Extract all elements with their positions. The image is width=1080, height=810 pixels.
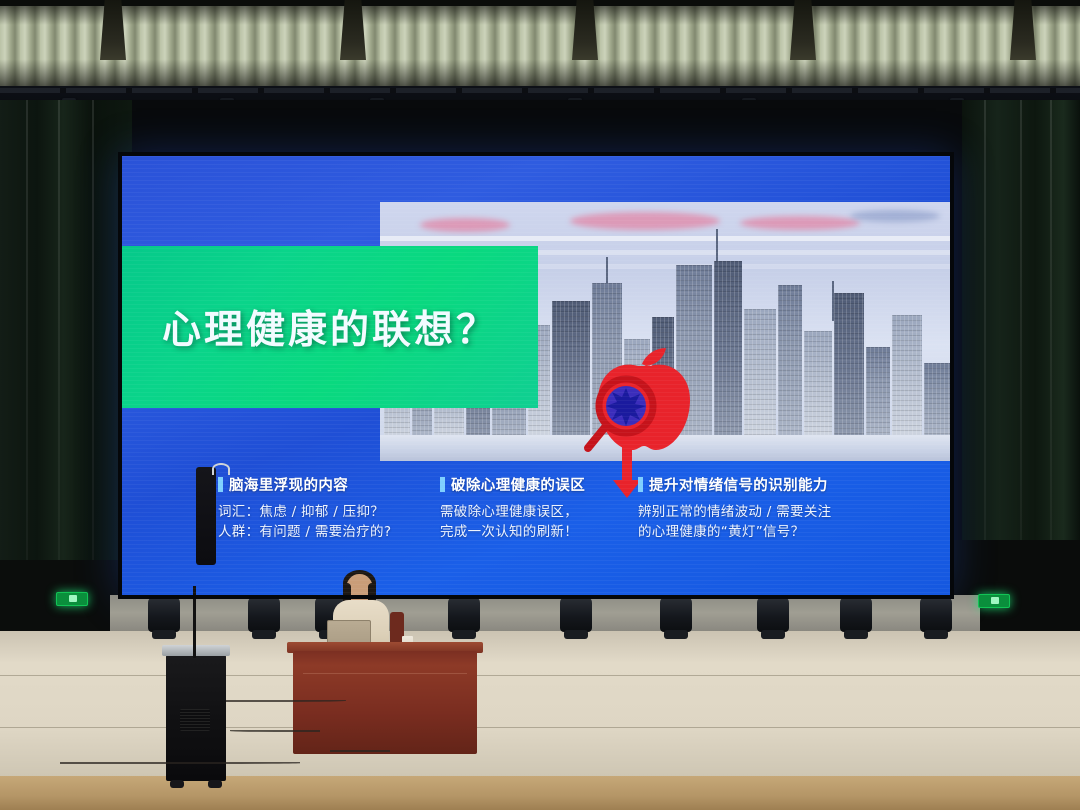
column-title: 脑海里浮现的内容 bbox=[229, 474, 348, 495]
slide-column-3: 提升对情绪信号的识别能力 辨别正常的情绪波动 / 需要关注 的心理健康的“黄灯”… bbox=[638, 474, 831, 542]
page-title: 心理健康的联想？ bbox=[162, 299, 498, 355]
moving-head-light bbox=[248, 596, 280, 632]
floor-cable bbox=[230, 730, 320, 732]
building bbox=[778, 285, 802, 435]
building bbox=[834, 293, 864, 435]
building bbox=[892, 315, 922, 435]
sky-band bbox=[380, 236, 950, 241]
accent-bar bbox=[638, 477, 643, 492]
moving-head-light bbox=[448, 596, 480, 632]
red-arrow-head-icon bbox=[613, 480, 641, 498]
floor-seam bbox=[0, 675, 1080, 676]
building bbox=[744, 309, 776, 435]
moving-head-light bbox=[757, 596, 789, 632]
column-title: 提升对情绪信号的识别能力 bbox=[649, 474, 828, 495]
floor-cable bbox=[330, 750, 390, 752]
speaker-grille-icon bbox=[180, 709, 210, 731]
microphone-stand bbox=[193, 586, 196, 658]
floor-seam bbox=[0, 727, 1080, 728]
building bbox=[804, 331, 832, 435]
floor-wood-strip bbox=[0, 776, 1080, 810]
column-line: 辨别正常的情绪波动 / 需要关注 bbox=[638, 502, 831, 522]
apple-magnifier-graphic bbox=[580, 344, 704, 464]
column-line: 词汇：焦虑 / 抑郁 / 压抑？ bbox=[218, 502, 391, 522]
column-title: 破除心理健康的误区 bbox=[451, 474, 585, 495]
moving-head-light bbox=[148, 596, 180, 632]
speaker-wheel bbox=[170, 780, 184, 788]
moving-head-light bbox=[840, 596, 872, 632]
speaker-top-plate bbox=[162, 645, 230, 656]
speaker-wheel bbox=[208, 780, 222, 788]
desk-panel-line bbox=[303, 673, 467, 674]
column-heading-row: 破除心理健康的误区 bbox=[440, 474, 585, 495]
column-line: 人群：有问题 / 需要治疗的? bbox=[218, 522, 391, 542]
column-heading-row: 提升对情绪信号的识别能力 bbox=[638, 474, 831, 495]
building bbox=[714, 261, 742, 435]
microphone-clip-icon bbox=[212, 463, 230, 475]
column-heading-row: 脑海里浮现的内容 bbox=[218, 474, 391, 495]
slide-column-2: 破除心理健康的误区 需破除心理健康误区， 完成一次认知的刷新！ bbox=[440, 474, 585, 542]
sky-cloud bbox=[420, 218, 510, 232]
microphone-body bbox=[196, 467, 216, 565]
sky-cloud bbox=[850, 210, 940, 222]
exit-sign-right bbox=[978, 594, 1010, 608]
slide-title-panel: 心理健康的联想？ bbox=[122, 246, 538, 408]
ceiling-rail bbox=[0, 88, 1080, 93]
moving-head-light bbox=[920, 596, 952, 632]
exit-sign-left bbox=[56, 592, 88, 606]
building bbox=[866, 347, 890, 435]
accent-bar bbox=[218, 477, 223, 492]
stage-photo-scene: 心理健康的联想？ 脑海里浮现的内容 词汇：焦虑 / 抑郁 / bbox=[0, 0, 1080, 810]
ceiling-valance bbox=[0, 6, 1080, 92]
moving-head-light bbox=[660, 596, 692, 632]
building bbox=[924, 363, 950, 435]
red-apple-icon bbox=[580, 344, 704, 464]
moving-head-light bbox=[560, 596, 592, 632]
led-screen-slide[interactable]: 心理健康的联想？ 脑海里浮现的内容 词汇：焦虑 / 抑郁 / bbox=[122, 156, 950, 595]
column-line: 完成一次认知的刷新！ bbox=[440, 522, 585, 542]
floor-cable bbox=[60, 762, 300, 764]
lecture-desk bbox=[293, 651, 477, 754]
slide-column-1: 脑海里浮现的内容 词汇：焦虑 / 抑郁 / 压抑？ 人群：有问题 / 需要治疗的… bbox=[218, 474, 391, 542]
column-line: 的心理健康的“黄灯”信号？ bbox=[638, 522, 831, 542]
sky-cloud bbox=[740, 216, 860, 230]
column-line: 需破除心理健康误区， bbox=[440, 502, 585, 522]
stage-floor bbox=[0, 631, 1080, 810]
accent-bar bbox=[440, 477, 445, 492]
sky-cloud bbox=[570, 212, 720, 230]
